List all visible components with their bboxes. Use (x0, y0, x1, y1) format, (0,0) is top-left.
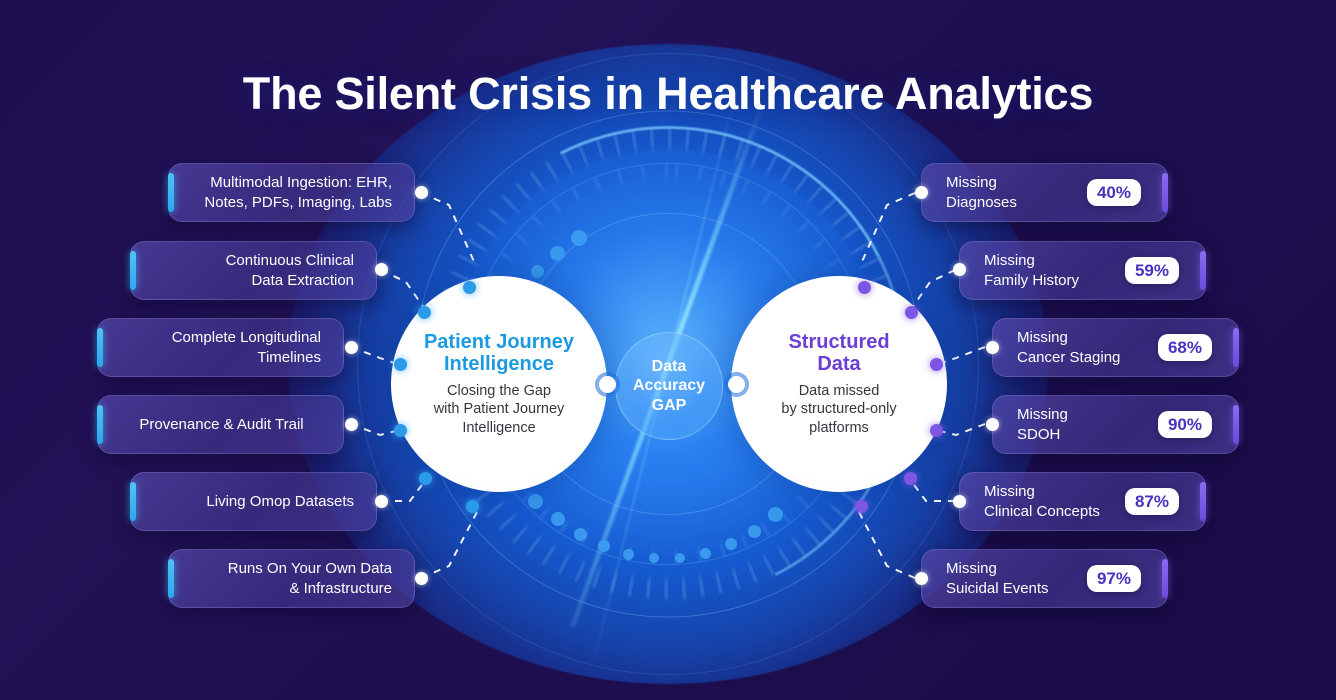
left-card-2-line1: Continuous Clinical (155, 251, 354, 271)
right-card-2-line2: Family History (984, 271, 1111, 291)
left-card-1-line2: Notes, PDFs, Imaging, Labs (193, 193, 392, 213)
right-circle-sub-line1: Data missed (781, 382, 896, 401)
left-card-6[interactable]: Runs On Your Own Data & Infrastructure (168, 549, 415, 608)
right-circle-rim-dot (904, 472, 917, 485)
left-card-5-text: Living Omop Datasets (131, 492, 376, 512)
left-circle-rim-dot (419, 472, 432, 485)
left-circle-sub-line3: Intelligence (434, 419, 565, 438)
left-circle-sub-line2: with Patient Journey (434, 400, 565, 419)
right-card-4[interactable]: Missing SDOH 90% (992, 395, 1239, 454)
arc-dot (725, 538, 737, 550)
left-card-3-text: Complete Longitudinal Timelines (98, 328, 343, 368)
left-connector-dot-2 (375, 263, 388, 276)
right-circle-sub-line3: platforms (781, 419, 896, 438)
right-card-6-line1: Missing (946, 559, 1073, 579)
arc-dot (598, 540, 610, 552)
left-circle-rim-dot (463, 281, 476, 294)
left-connector-dot-3 (345, 341, 358, 354)
left-card-6-line2: & Infrastructure (193, 579, 392, 599)
left-card-1[interactable]: Multimodal Ingestion: EHR, Notes, PDFs, … (168, 163, 415, 222)
right-card-4-line2: SDOH (1017, 425, 1144, 445)
scatter-dot (571, 230, 587, 246)
gap-label-line2: Accuracy (633, 376, 705, 395)
gap-label-line1: Data (633, 357, 705, 376)
right-card-6[interactable]: Missing Suicidal Events 97% (921, 549, 1168, 608)
left-circle-rim-dot (394, 424, 407, 437)
right-card-1[interactable]: Missing Diagnoses 40% (921, 163, 1168, 222)
card-accent-bar (130, 482, 136, 521)
right-card-3-text: Missing Cancer Staging (993, 328, 1158, 368)
right-card-2-badge: 59% (1125, 257, 1179, 284)
card-accent-bar (130, 251, 136, 290)
left-card-4-line1: Provenance & Audit Trail (122, 415, 321, 435)
arc-dot (528, 494, 543, 509)
gap-label-line3: GAP (633, 396, 705, 415)
right-card-4-text: Missing SDOH (993, 405, 1158, 445)
right-card-2[interactable]: Missing Family History 59% (959, 241, 1206, 300)
left-card-4[interactable]: Provenance & Audit Trail (97, 395, 344, 454)
left-connector-dot-5 (375, 495, 388, 508)
gap-hub-dot-left (599, 376, 616, 393)
right-circle-rim-dot (855, 500, 868, 513)
infographic-canvas: The Silent Crisis in Healthcare Analytic… (0, 0, 1336, 700)
left-card-2-text: Continuous Clinical Data Extraction (131, 251, 376, 291)
left-card-1-text: Multimodal Ingestion: EHR, Notes, PDFs, … (169, 173, 414, 213)
left-connector-dot-4 (345, 418, 358, 431)
right-circle-rim-dot (930, 424, 943, 437)
card-accent-bar (1200, 251, 1206, 290)
card-accent-bar (168, 559, 174, 598)
data-accuracy-gap-node[interactable]: Data Accuracy GAP (615, 332, 723, 440)
scatter-dot (531, 265, 544, 278)
arc-dot (623, 549, 634, 560)
right-card-1-badge: 40% (1087, 179, 1141, 206)
gap-hub-dot-right (728, 376, 745, 393)
right-card-5-badge: 87% (1125, 488, 1179, 515)
left-card-6-line1: Runs On Your Own Data (193, 559, 392, 579)
right-connector-dot-5 (953, 495, 966, 508)
card-accent-bar (1233, 405, 1239, 444)
left-circle-rim-dot (394, 358, 407, 371)
left-card-5[interactable]: Living Omop Datasets (130, 472, 377, 531)
right-circle-heading-line1: Structured (788, 331, 889, 353)
right-connector-dot-1 (915, 186, 928, 199)
right-connector-dot-4 (986, 418, 999, 431)
card-accent-bar (1162, 173, 1168, 212)
left-circle-sub-line1: Closing the Gap (434, 382, 565, 401)
right-card-2-line1: Missing (984, 251, 1111, 271)
right-card-1-line2: Diagnoses (946, 193, 1073, 213)
right-circle-heading: Structured Data (788, 331, 889, 376)
right-card-3-line2: Cancer Staging (1017, 348, 1144, 368)
arc-dot (649, 553, 659, 563)
arc-dot (700, 548, 711, 559)
right-circle-subtext: Data missed by structured-only platforms (781, 382, 896, 438)
scatter-dot (550, 246, 565, 261)
left-card-3-line2: Timelines (122, 348, 321, 368)
left-card-2-line2: Data Extraction (155, 271, 354, 291)
arc-dot (675, 553, 685, 563)
arc-dot (551, 512, 565, 526)
card-accent-bar (97, 328, 103, 367)
right-card-5-line2: Clinical Concepts (984, 502, 1111, 522)
right-card-1-line1: Missing (946, 173, 1073, 193)
left-card-3[interactable]: Complete Longitudinal Timelines (97, 318, 344, 377)
right-card-6-badge: 97% (1087, 565, 1141, 592)
right-card-5[interactable]: Missing Clinical Concepts 87% (959, 472, 1206, 531)
right-card-5-text: Missing Clinical Concepts (960, 482, 1125, 522)
gap-label: Data Accuracy GAP (633, 357, 705, 415)
left-circle-rim-dot (418, 306, 431, 319)
right-connector-dot-2 (953, 263, 966, 276)
left-card-1-line1: Multimodal Ingestion: EHR, (193, 173, 392, 193)
right-card-3-badge: 68% (1158, 334, 1212, 361)
right-card-3[interactable]: Missing Cancer Staging 68% (992, 318, 1239, 377)
right-card-6-line2: Suicidal Events (946, 579, 1073, 599)
right-circle-heading-line2: Data (788, 353, 889, 375)
right-circle-rim-dot (905, 306, 918, 319)
page-title: The Silent Crisis in Healthcare Analytic… (0, 68, 1336, 120)
right-circle-rim-dot (858, 281, 871, 294)
right-connector-dot-3 (986, 341, 999, 354)
right-card-3-line1: Missing (1017, 328, 1144, 348)
arc-dot (748, 525, 761, 538)
left-card-2[interactable]: Continuous Clinical Data Extraction (130, 241, 377, 300)
card-accent-bar (1200, 482, 1206, 521)
right-card-6-text: Missing Suicidal Events (922, 559, 1087, 599)
card-accent-bar (168, 173, 174, 212)
card-accent-bar (97, 405, 103, 444)
left-card-5-line1: Living Omop Datasets (155, 492, 354, 512)
arc-dot (768, 507, 783, 522)
left-circle-heading: Patient Journey Intelligence (424, 331, 574, 376)
arc-dot (574, 528, 587, 541)
left-circle-rim-dot (466, 500, 479, 513)
left-circle-subtext: Closing the Gap with Patient Journey Int… (434, 382, 565, 438)
left-circle-heading-line2: Intelligence (424, 353, 574, 375)
right-connector-dot-6 (915, 572, 928, 585)
left-connector-dot-1 (415, 186, 428, 199)
right-card-5-line1: Missing (984, 482, 1111, 502)
left-card-3-line1: Complete Longitudinal (122, 328, 321, 348)
card-accent-bar (1162, 559, 1168, 598)
left-card-4-text: Provenance & Audit Trail (98, 415, 343, 435)
right-card-1-text: Missing Diagnoses (922, 173, 1087, 213)
right-card-4-line1: Missing (1017, 405, 1144, 425)
left-card-6-text: Runs On Your Own Data & Infrastructure (169, 559, 414, 599)
left-circle-heading-line1: Patient Journey (424, 331, 574, 353)
card-accent-bar (1233, 328, 1239, 367)
right-card-2-text: Missing Family History (960, 251, 1125, 291)
right-circle-sub-line2: by structured-only (781, 400, 896, 419)
right-circle-rim-dot (930, 358, 943, 371)
left-connector-dot-6 (415, 572, 428, 585)
right-card-4-badge: 90% (1158, 411, 1212, 438)
